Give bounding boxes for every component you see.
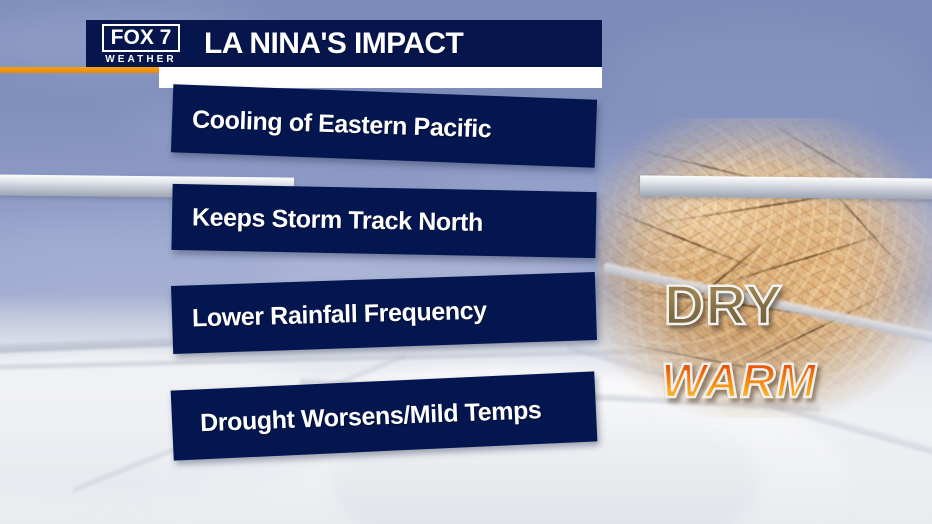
overlay-label-dry: DRY <box>664 277 783 333</box>
accent-orange-bar <box>0 67 159 73</box>
bullet-bar-2: Keeps Storm Track North <box>171 184 596 258</box>
logo-primary-text: FOX 7 <box>111 27 172 48</box>
cloud-shape <box>600 30 930 120</box>
logo-box: FOX 7 <box>102 24 181 52</box>
fox7-weather-logo: FOX 7 WEATHER <box>92 22 190 66</box>
bullet-label-2: Keeps Storm Track North <box>172 202 483 237</box>
bullet-bar-3: Lower Rainfall Frequency <box>171 272 597 354</box>
bullet-label-4: Drought Worsens/Mild Temps <box>172 396 542 439</box>
weather-graphic-stage: DRY WARM FOX 7 WEATHER LA NINA'S IMPACT … <box>0 0 932 524</box>
studio-rail-right <box>640 175 932 199</box>
page-title: LA NINA'S IMPACT <box>204 27 463 61</box>
bullet-label-3: Lower Rainfall Frequency <box>172 296 487 333</box>
header-title-bar: FOX 7 WEATHER LA NINA'S IMPACT <box>86 20 602 68</box>
logo-secondary-text: WEATHER <box>105 54 177 65</box>
overlay-label-warm: WARM <box>661 358 817 406</box>
bullet-label-1: Cooling of Eastern Pacific <box>172 104 492 144</box>
accent-white-bar <box>159 67 602 88</box>
